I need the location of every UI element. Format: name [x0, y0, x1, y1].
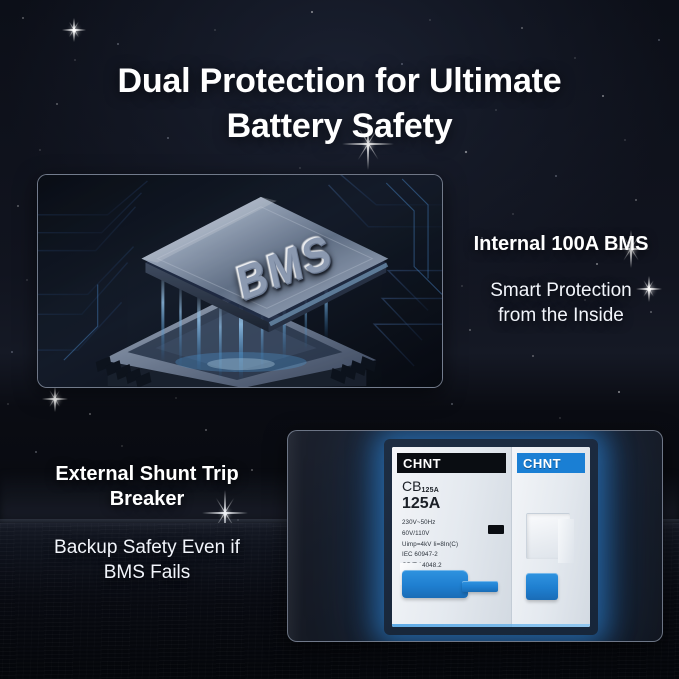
breaker-type-label: CB	[402, 478, 421, 494]
breaker-caption-block: External Shunt Trip Breaker Backup Safet…	[16, 462, 278, 585]
breaker-type-line: CB125A	[402, 479, 458, 493]
bms-caption-block: Internal 100A BMS Smart Protection from …	[452, 232, 670, 328]
bms-caption-title: Internal 100A BMS	[452, 232, 670, 257]
list-item: IEC 60947-2	[402, 550, 458, 561]
chnt-logo-black: CHNT	[397, 453, 506, 473]
bms-caption-subtitle: Smart Protection from the Inside	[452, 279, 670, 328]
breaker-caption-title-line2: Breaker	[16, 487, 278, 512]
page-title: Dual Protection for Ultimate Battery Saf…	[0, 59, 679, 149]
breaker-image-card: CHNT CB125A 125A 230V~50Hz 60V/110V Uimp…	[287, 430, 663, 642]
breaker-left-module: CHNT CB125A 125A 230V~50Hz 60V/110V Uimp…	[392, 447, 512, 627]
page-title-line2: Battery Safety	[0, 104, 679, 149]
bms-caption-subtitle-line2: from the Inside	[452, 304, 670, 329]
breaker-indicator-window	[488, 525, 504, 534]
sparkle-star-icon	[62, 18, 86, 42]
circuit-traces-background	[38, 175, 442, 388]
breaker-caption-title-line1: External Shunt Trip	[16, 462, 278, 487]
breaker-lever-link[interactable]	[462, 581, 498, 592]
promo-infographic: Dual Protection for Ultimate Battery Saf…	[0, 0, 679, 679]
list-item: 60V/110V	[402, 529, 458, 540]
breaker-current-rating: 125A	[402, 495, 458, 513]
page-title-line1: Dual Protection for Ultimate	[117, 62, 561, 100]
breaker-caption-subtitle: Backup Safety Even if BMS Fails	[16, 536, 278, 585]
breaker-shunt-trip-lever[interactable]	[526, 573, 558, 600]
breaker-caption-subtitle-line2: BMS Fails	[16, 561, 278, 586]
list-item: Uimp=4kV Ii=8In(C)	[402, 540, 458, 551]
breaker-caption-title: External Shunt Trip Breaker	[16, 462, 278, 512]
breaker-caption-subtitle-line1: Backup Safety Even if	[16, 536, 278, 561]
breaker-base-strip	[392, 624, 590, 627]
circuit-breaker-device: CHNT CB125A 125A 230V~50Hz 60V/110V Uimp…	[392, 447, 590, 627]
breaker-right-module: CHNT	[512, 447, 590, 627]
chnt-logo-blue: CHNT	[517, 453, 585, 473]
list-item: 230V~50Hz	[402, 518, 458, 529]
bms-image-card: BMS	[37, 174, 443, 388]
chnt-logo-text: CHNT	[403, 456, 441, 471]
breaker-main-toggle-lever[interactable]	[402, 570, 468, 598]
breaker-shunt-ledge	[558, 519, 574, 563]
breaker-type-rating: 125A	[421, 487, 439, 494]
chnt-logo-text: CHNT	[523, 456, 561, 471]
bms-caption-subtitle-line1: Smart Protection	[452, 279, 670, 304]
sparkle-star-icon	[42, 386, 68, 412]
